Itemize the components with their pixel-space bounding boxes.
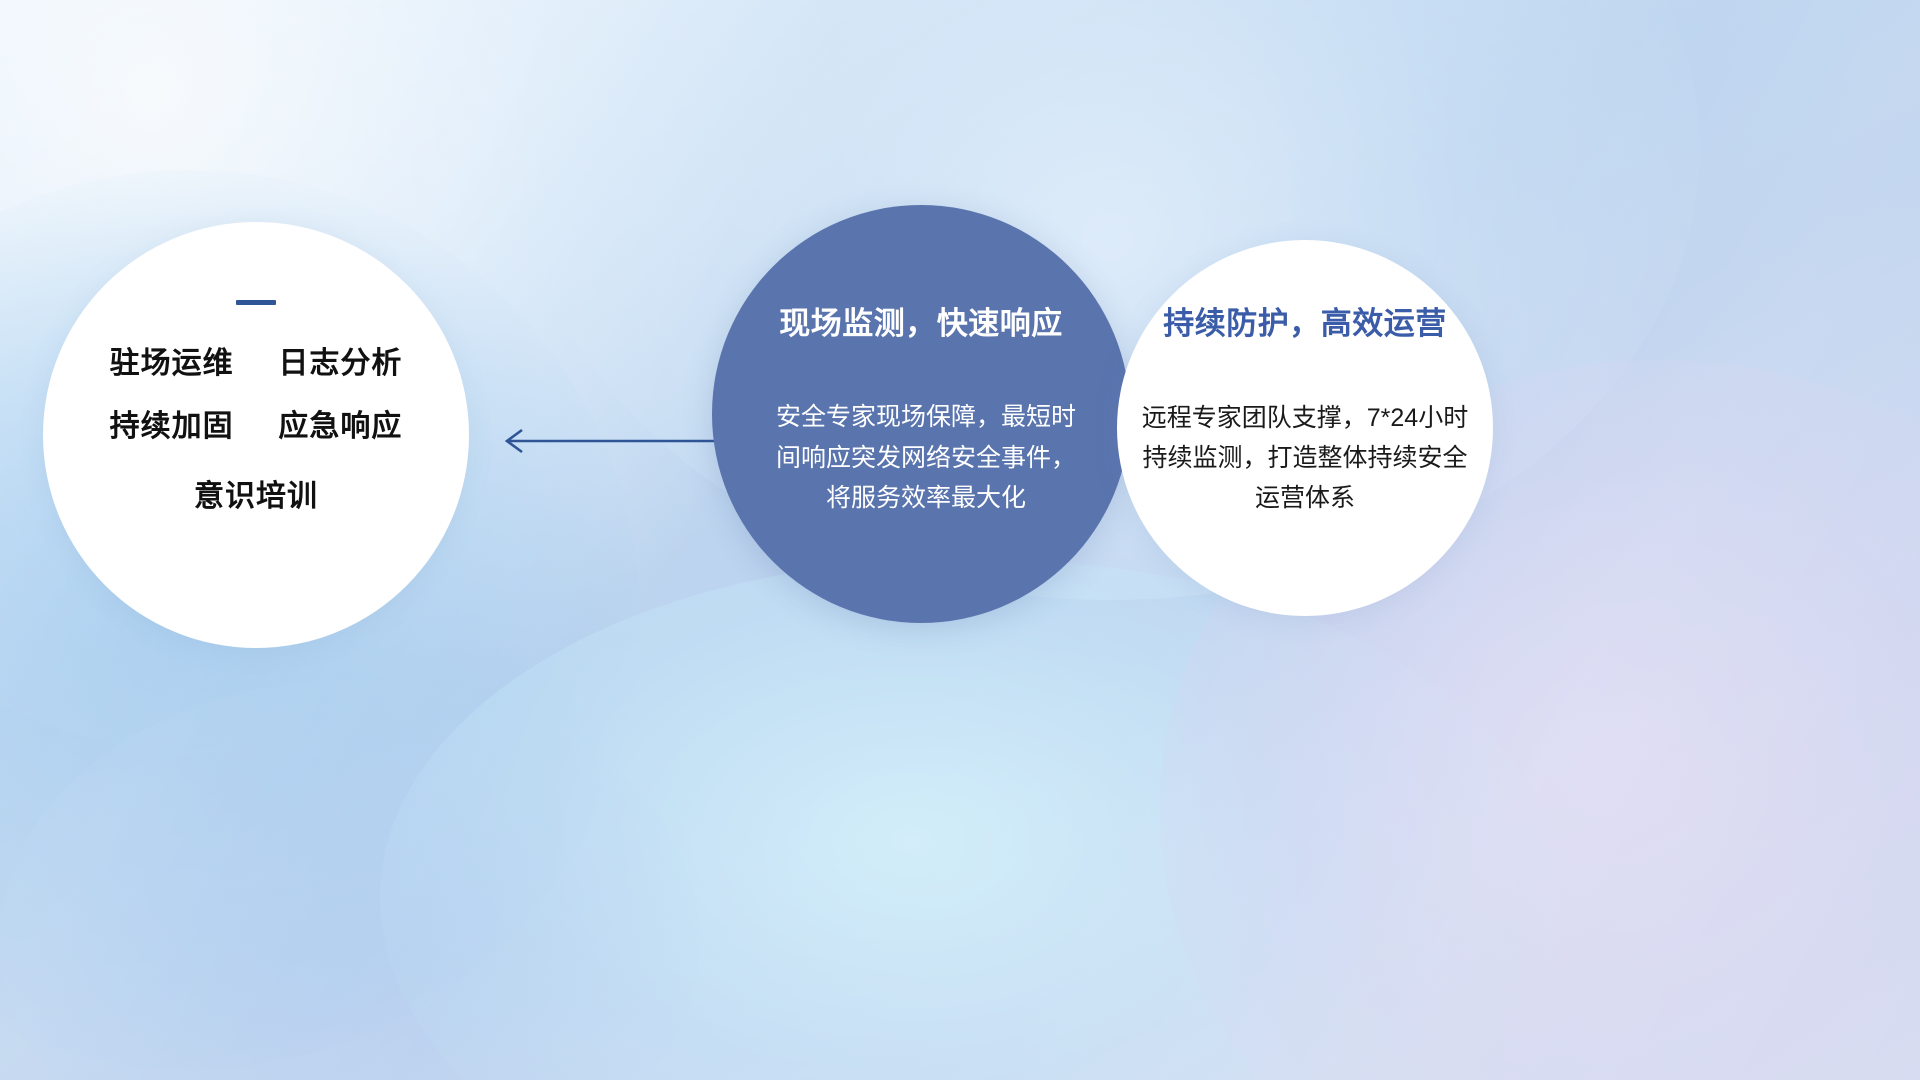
feature-circle-onsite[interactable]: 现场监测，快速响应 安全专家现场保障，最短时间响应突发网络安全事件，将服务效率最… xyxy=(712,205,1130,623)
capability-row-1: 驻场运维 日志分析 xyxy=(43,349,469,379)
capability-list: 驻场运维 日志分析 持续加固 应急响应 意识培训 xyxy=(43,300,469,512)
feature-title-remote: 持续防护，高效运营 xyxy=(1117,298,1493,343)
slide-canvas: 驻场运维 日志分析 持续加固 应急响应 意识培训 现场监测，快速响应 安全专家现… xyxy=(0,0,1920,1080)
arrow-left-icon xyxy=(492,424,724,458)
capability-label-log-analysis: 日志分析 xyxy=(278,347,402,380)
capability-row-3: 意识培训 xyxy=(43,482,469,512)
feature-body-remote: 远程专家团队支撑，7*24小时持续监测，打造整体持续安全运营体系 xyxy=(1131,398,1479,518)
feature-circle-remote[interactable]: 持续防护，高效运营 远程专家团队支撑，7*24小时持续监测，打造整体持续安全运营… xyxy=(1117,240,1493,616)
feature-body-onsite: 安全专家现场保障，最短时间响应突发网络安全事件，将服务效率最大化 xyxy=(770,397,1082,519)
feature-title-onsite: 现场监测，快速响应 xyxy=(712,298,1130,343)
capability-label-emergency-response: 应急响应 xyxy=(278,410,402,443)
capability-row-2: 持续加固 应急响应 xyxy=(43,412,469,442)
capability-label-awareness-training: 意识培训 xyxy=(194,480,318,513)
capability-circle-left[interactable]: 驻场运维 日志分析 持续加固 应急响应 意识培训 xyxy=(43,222,469,648)
capability-label-continuous-hardening: 持续加固 xyxy=(110,410,234,443)
capability-label-onsite-ops: 驻场运维 xyxy=(110,347,234,380)
divider-dash-icon xyxy=(236,300,276,305)
